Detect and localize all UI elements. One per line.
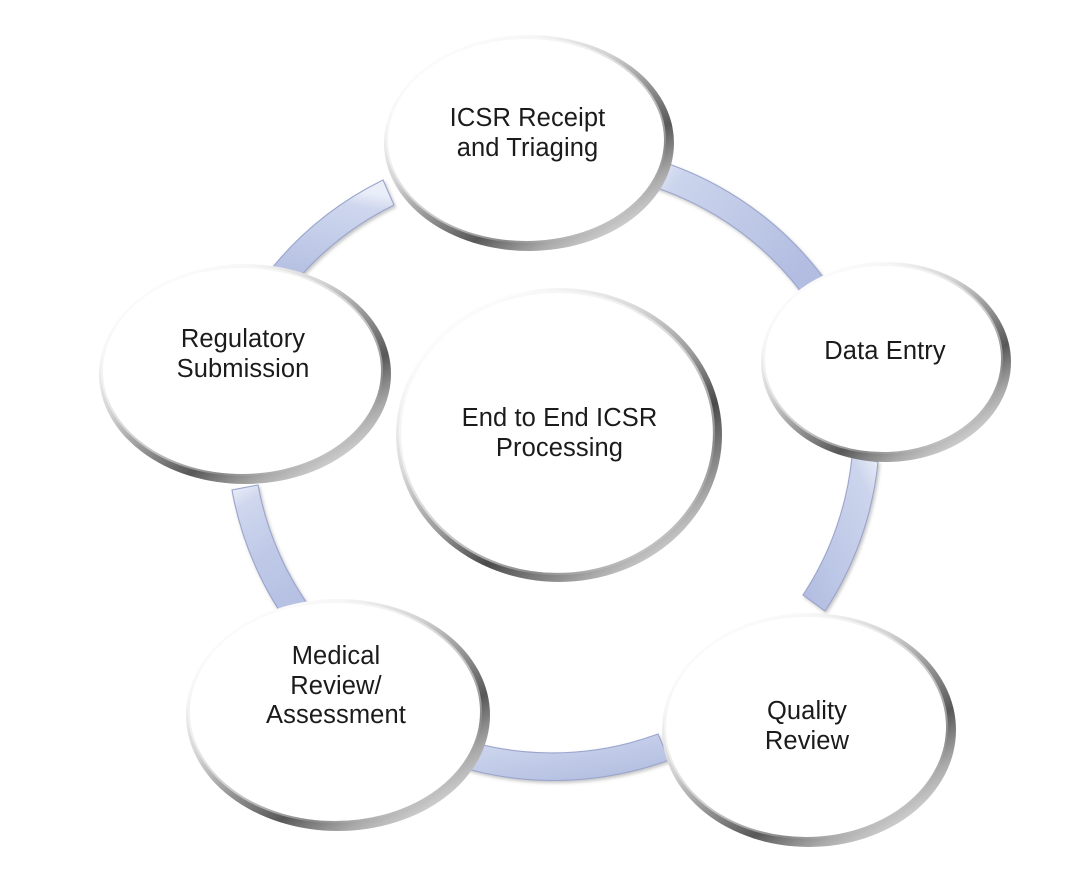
connector-data-entry-to-quality bbox=[803, 457, 878, 611]
stage-node-face bbox=[387, 38, 665, 242]
hub-node-face bbox=[400, 292, 714, 574]
connector-receipt-to-data-entry bbox=[651, 161, 823, 293]
stage-node-quality-review[interactable] bbox=[662, 613, 956, 847]
stage-node-face bbox=[665, 616, 947, 838]
stage-node-medical-review-assessment[interactable] bbox=[186, 599, 490, 831]
stage-node-regulatory-submission[interactable] bbox=[99, 264, 391, 484]
cycle-diagram-canvas bbox=[0, 0, 1084, 893]
stage-node-face bbox=[102, 267, 382, 475]
stage-node-face bbox=[189, 602, 481, 822]
stage-node-data-entry[interactable] bbox=[761, 262, 1011, 462]
stage-node-face bbox=[764, 265, 1002, 453]
stage-node-icsr-receipt-and-triaging[interactable] bbox=[384, 35, 674, 251]
cycle-diagram: End to End ICSR Processing ICSR Receipt … bbox=[0, 0, 1084, 893]
hub-node[interactable] bbox=[396, 288, 722, 582]
